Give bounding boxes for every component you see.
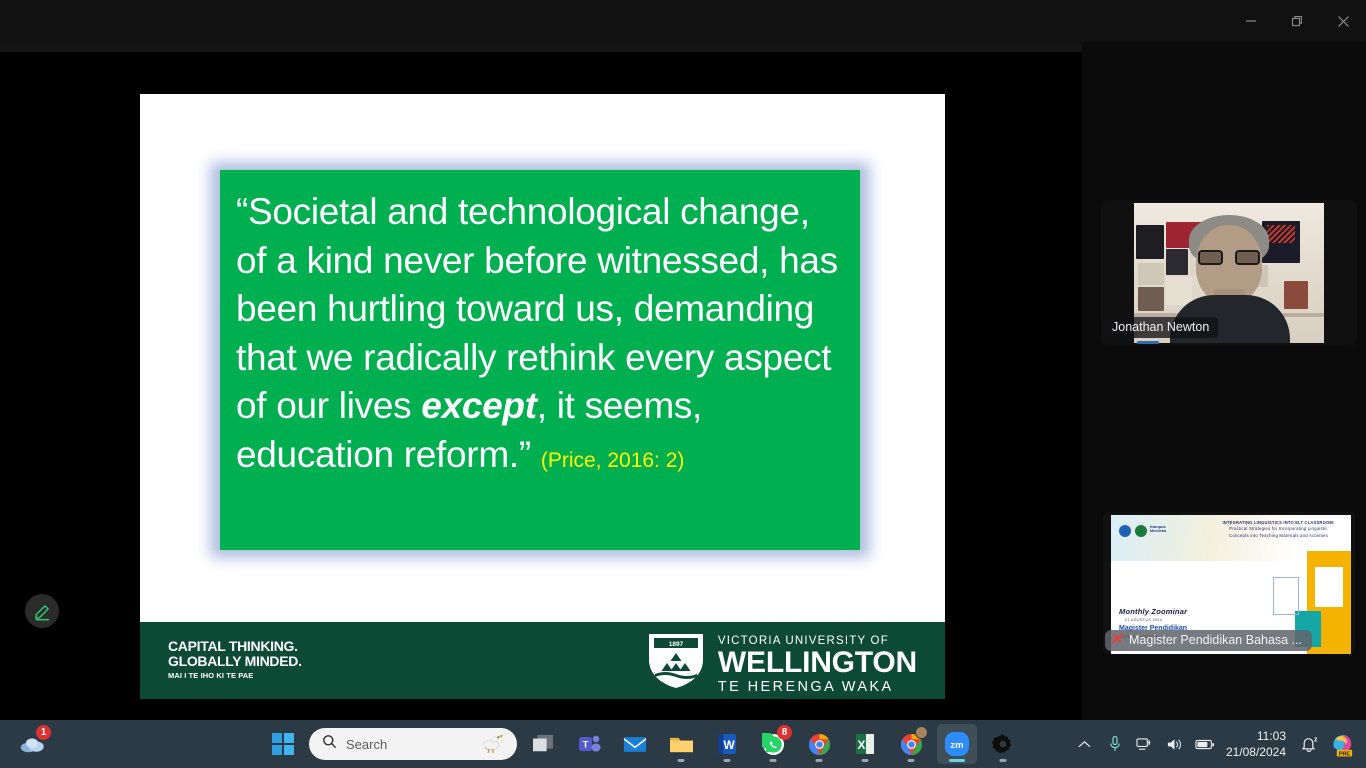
settings-gear-icon[interactable] [983, 724, 1023, 764]
profile-avatar [915, 726, 928, 739]
app-running-underline [678, 759, 685, 762]
share-screen-badge-label: Magister Pendidikan Bahasa ... [1129, 633, 1302, 647]
taskbar-left-group: 1 [12, 720, 52, 768]
mic-indicator [1137, 341, 1159, 344]
university-tagline: CAPITAL THINKING. GLOBALLY MINDED. MAI I… [168, 639, 302, 682]
start-button[interactable] [263, 724, 303, 764]
annotate-button[interactable] [25, 594, 59, 628]
vuw-logo: 1897 VICTORIA UNIVERSITY OF [646, 632, 917, 697]
svg-text:T: T [583, 740, 589, 751]
gannet-bird-icon [479, 732, 505, 761]
copilot-icon[interactable]: PRE [1326, 724, 1358, 764]
thumbnail-title-line-3: Concepts into Teaching Materials and Act… [1229, 533, 1328, 538]
wall-poster [1166, 249, 1188, 275]
microsoft-word-icon[interactable]: W [707, 724, 747, 764]
volume-icon[interactable] [1162, 724, 1188, 764]
svg-text:zm: zm [950, 740, 963, 751]
window-controls [1228, 0, 1366, 42]
whatsapp-badge: 8 [777, 725, 792, 740]
app-running-underline [816, 759, 823, 762]
thumbnail-title-line-2: Practical Strategies for Incorporating L… [1229, 526, 1327, 531]
quote-emphasis: except [421, 385, 536, 426]
network-icon[interactable] [1132, 724, 1158, 764]
svg-text:1897: 1897 [669, 641, 684, 648]
app-running-underline [862, 759, 869, 762]
svg-text:X: X [857, 738, 865, 752]
app-active-underline [949, 759, 965, 762]
shared-screen-stage: “Societal and technological change, of a… [0, 42, 1082, 720]
quote-citation: (Price, 2016: 2) [541, 449, 685, 472]
institution-logo-1-icon [1119, 525, 1131, 537]
svg-text:PRE: PRE [1338, 751, 1349, 757]
screen-share-name-badge: Magister Pendidikan Bahasa ... [1105, 630, 1312, 651]
vuw-line-2: WELLINGTON [718, 648, 917, 678]
restore-icon[interactable] [1274, 0, 1320, 42]
show-hidden-icons-chevron[interactable] [1072, 724, 1098, 764]
app-running-underline [1000, 759, 1007, 762]
thumbnail-monthly-label: Monthly Zoominar [1119, 607, 1187, 616]
battery-icon[interactable] [1192, 724, 1218, 764]
institution-logo-2-icon [1135, 525, 1147, 537]
participant-name-badge: Jonathan Newton [1103, 317, 1218, 338]
system-tray: 11:03 21/08/2024 z PRE [1072, 720, 1358, 768]
wall-poster [1138, 287, 1164, 311]
tagline-line-2: GLOBALLY MINDED. [168, 654, 302, 669]
google-chrome-profile-icon[interactable] [891, 724, 931, 764]
app-running-underline [908, 759, 915, 762]
quote-block: “Societal and technological change, of a… [210, 162, 870, 558]
person-glasses [1198, 250, 1260, 265]
glasses-lens-left [1198, 250, 1223, 265]
svg-text:W: W [723, 738, 735, 752]
file-explorer-icon[interactable] [661, 724, 701, 764]
microsoft-teams-icon[interactable]: T [569, 724, 609, 764]
minimize-icon[interactable] [1228, 0, 1274, 42]
search-input[interactable]: Search [309, 728, 517, 760]
onedrive-badge: 1 [36, 725, 51, 740]
microphone-icon[interactable] [1102, 724, 1128, 764]
participant-rail: Jonathan Newton KampusMerdeka INTEGRATIN… [1082, 42, 1366, 720]
zoom-window-titlebar [0, 0, 1366, 42]
do-not-disturb-bell-icon[interactable]: z [1296, 724, 1322, 764]
svg-text:z: z [1314, 737, 1318, 744]
wall-poster [1166, 277, 1192, 305]
tagline-line-1: CAPITAL THINKING. [168, 639, 302, 654]
google-chrome-icon[interactable] [799, 724, 839, 764]
screen: “Societal and technological change, of a… [0, 0, 1366, 768]
glasses-lens-right [1235, 250, 1260, 265]
windows-taskbar: 1 Search [0, 720, 1366, 768]
wall-poster-chevrons [1267, 225, 1295, 243]
taskbar-center-group: Search [263, 720, 1023, 768]
app-running-underline [770, 759, 777, 762]
vuw-line-3: TE HERENGA WAKA [718, 678, 917, 697]
pencil-icon [33, 602, 52, 621]
app-running-underline [724, 759, 731, 762]
vuw-shield-icon: 1897 [646, 632, 706, 690]
wall-poster [1136, 225, 1164, 259]
stage-top-strip [0, 42, 1082, 52]
slide-footer-band: CAPITAL THINKING. GLOBALLY MINDED. MAI I… [140, 622, 945, 699]
whatsapp-icon[interactable]: 8 [753, 724, 793, 764]
participant-video-tile[interactable]: Jonathan Newton [1101, 200, 1357, 346]
vuw-wordmark: VICTORIA UNIVERSITY OF WELLINGTON TE HER… [718, 632, 917, 697]
onedrive-icon[interactable]: 1 [12, 724, 52, 764]
thumbnail-date: 21 AGUSTUS 2024 [1125, 618, 1162, 622]
share-screen-icon [1111, 632, 1124, 648]
close-icon[interactable] [1320, 0, 1366, 42]
mail-icon[interactable] [615, 724, 655, 764]
thumbnail-title-line-1: INTEGRATING LINGUISTICS INTO ELT CLASSRO… [1222, 520, 1334, 525]
zoom-icon[interactable]: zm [937, 724, 977, 764]
presentation-slide: “Societal and technological change, of a… [140, 94, 945, 699]
thumbnail-title: INTEGRATING LINGUISTICS INTO ELT CLASSRO… [1211, 520, 1346, 539]
quote-green-box: “Societal and technological change, of a… [220, 170, 860, 550]
wall-poster [1138, 263, 1164, 285]
microsoft-excel-icon[interactable]: X [845, 724, 885, 764]
search-icon [322, 734, 337, 754]
wall-poster [1284, 281, 1308, 309]
task-view-icon[interactable] [523, 724, 563, 764]
kampus-merdeka-wordmark: KampusMerdeka [1150, 525, 1166, 534]
taskbar-clock[interactable]: 11:03 21/08/2024 [1222, 728, 1292, 760]
screen-share-thumbnail-tile[interactable]: KampusMerdeka INTEGRATING LINGUISTICS IN… [1101, 510, 1357, 656]
search-placeholder: Search [346, 737, 387, 752]
clock-date: 21/08/2024 [1226, 744, 1286, 760]
decor-white-block [1315, 567, 1343, 607]
decor-outline-block [1273, 577, 1299, 615]
tagline-maori: MAI I TE IHO KI TE PAE [168, 669, 302, 682]
clock-time: 11:03 [1226, 728, 1286, 744]
quote-text: “Societal and technological change, of a… [236, 188, 844, 485]
